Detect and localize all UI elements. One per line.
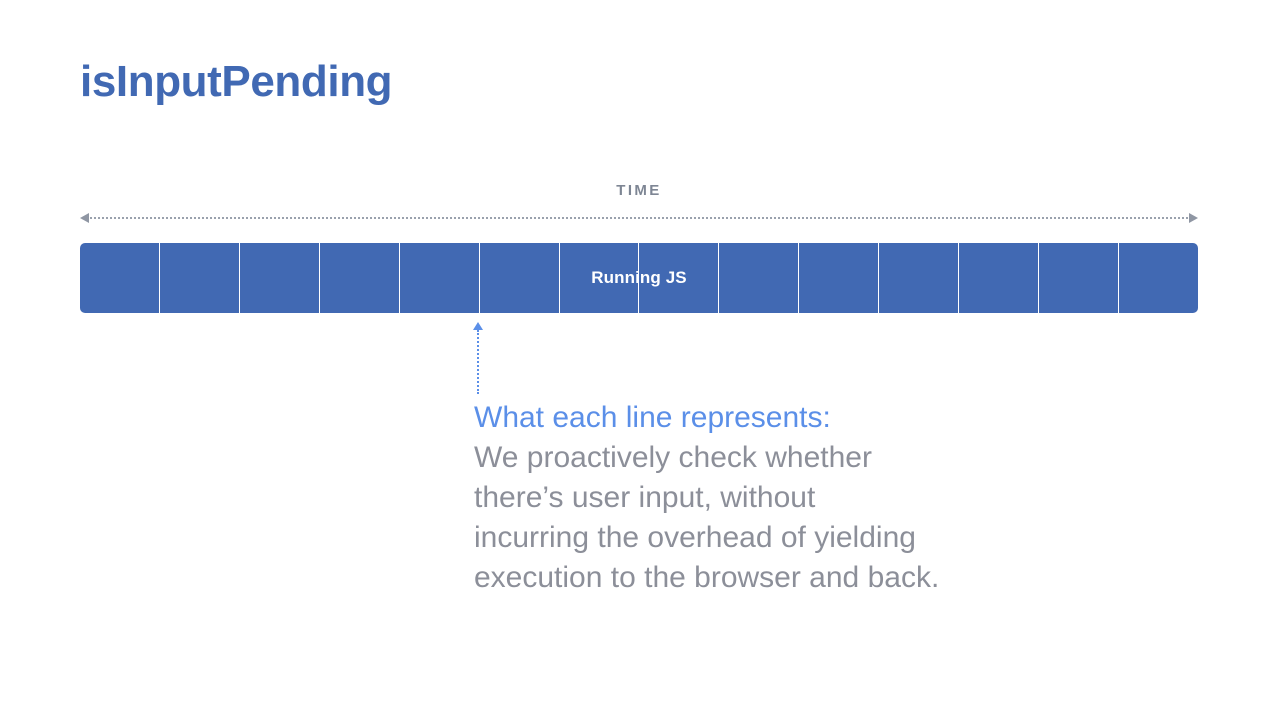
page-title: isInputPending <box>80 58 392 106</box>
timeline-segment <box>400 243 480 313</box>
callout-body-line: incurring the overhead of yielding <box>474 518 994 558</box>
time-axis-label: TIME <box>80 182 1198 199</box>
callout-body-line: We proactively check whether <box>474 438 994 478</box>
callout-connector <box>472 322 484 394</box>
timeline-segment <box>320 243 400 313</box>
callout-text-block: What each line represents: We proactivel… <box>474 398 994 598</box>
timeline-segment <box>1119 243 1198 313</box>
timeline-segment <box>160 243 240 313</box>
callout-dotted-line <box>477 330 479 394</box>
timeline-segment <box>799 243 879 313</box>
callout-heading: What each line represents: <box>474 398 994 438</box>
time-axis: TIME <box>80 182 1198 224</box>
timeline-segment <box>240 243 320 313</box>
time-axis-line <box>80 213 1198 223</box>
timeline-segment <box>639 243 719 313</box>
timeline-segment <box>560 243 640 313</box>
time-axis-dotted-rule <box>90 217 1188 219</box>
callout-body: We proactively check whether there’s use… <box>474 438 994 598</box>
callout-body-line: execution to the browser and back. <box>474 558 994 598</box>
up-arrow-icon <box>473 322 483 330</box>
callout-body-line: there’s user input, without <box>474 478 994 518</box>
timeline-segment <box>959 243 1039 313</box>
timeline-segment <box>480 243 560 313</box>
timeline-segment <box>719 243 799 313</box>
timeline-segment <box>879 243 959 313</box>
right-arrow-icon <box>1189 213 1198 223</box>
timeline-segment <box>80 243 160 313</box>
timeline-segment <box>1039 243 1119 313</box>
timeline-bar <box>80 243 1198 313</box>
left-arrow-icon <box>80 213 89 223</box>
